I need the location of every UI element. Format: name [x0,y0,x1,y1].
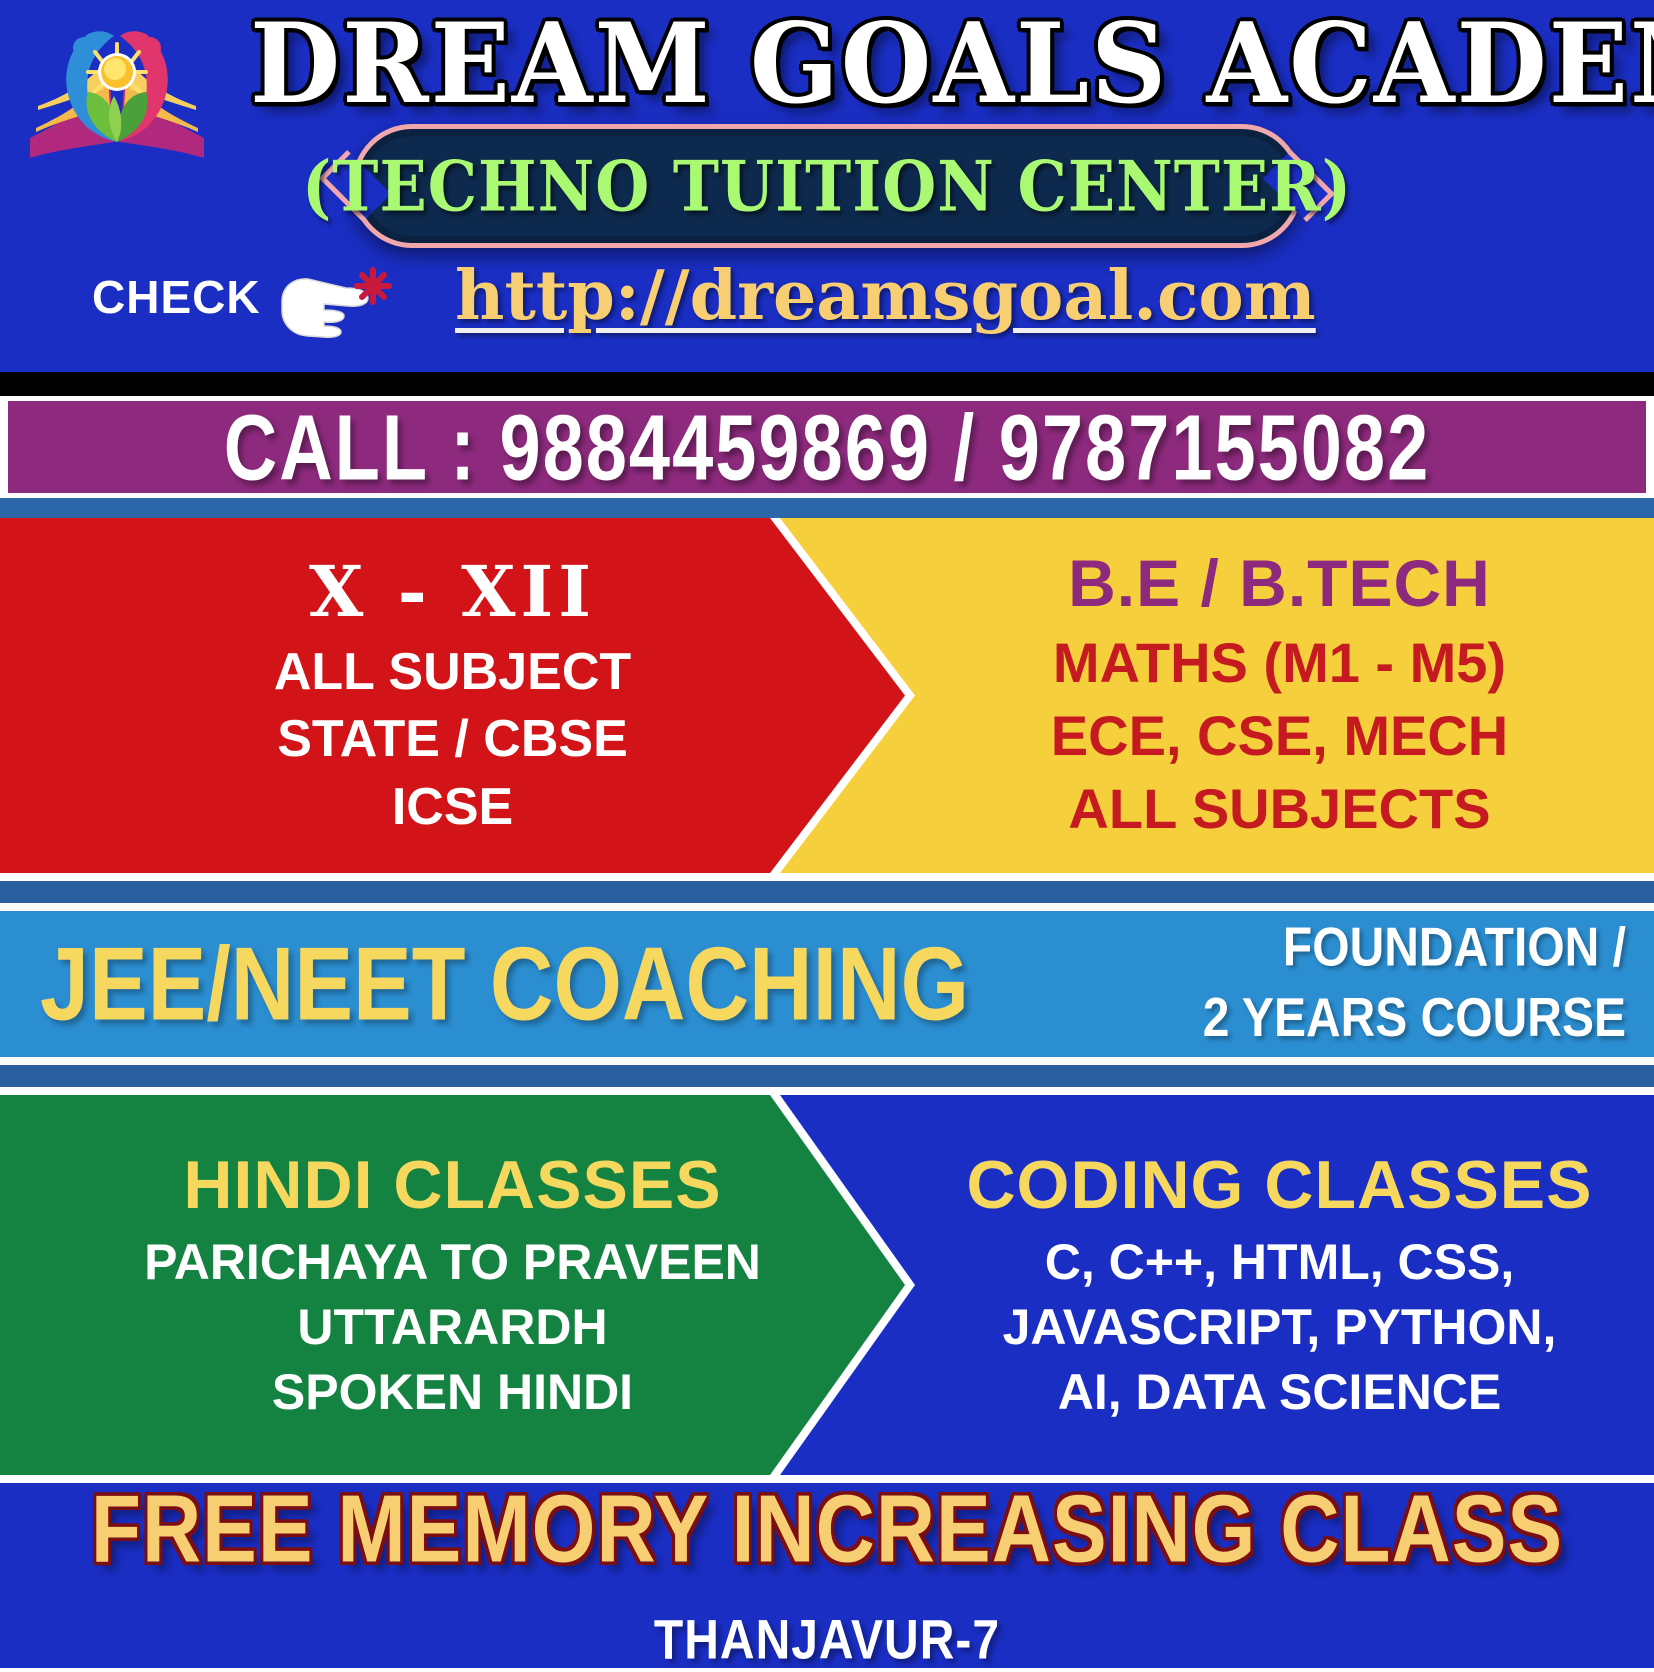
divider-white-4 [0,1087,1654,1095]
header-section: DREAM GOALS ACADEMY (TECHNO TUITION CENT… [0,0,1654,372]
coding-line-3: AI, DATA SCIENCE [1058,1360,1502,1425]
school-line-1: ALL SUBJECT [274,639,631,707]
panel-hindi[interactable]: HINDI CLASSES PARICHAYA TO PRAVEEN UTTAR… [0,1095,905,1475]
hindi-line-3: SPOKEN HINDI [272,1360,633,1425]
engineering-line-1: MATHS (M1 - M5) [1053,627,1506,700]
panel-coding[interactable]: CODING CLASSES C, C++, HTML, CSS, JAVASC… [905,1095,1654,1475]
hindi-line-1: PARICHAYA TO PRAVEEN [144,1230,761,1295]
jee-neet-band[interactable]: JEE/NEET COACHING FOUNDATION / 2 YEARS C… [0,911,1654,1057]
divider-blue-3 [0,1065,1654,1087]
row-school-engineering: X - XII ALL SUBJECT STATE / CBSE ICSE B.… [0,518,1654,873]
footer-section: FREE MEMORY INCREASING CLASS THANJAVUR-7 [0,1483,1654,1668]
subtitle-badge: (TECHNO TUITION CENTER) [352,124,1302,248]
free-class-banner: FREE MEMORY INCREASING CLASS [91,1475,1563,1584]
divider-black [0,372,1654,396]
hindi-line-2: UTTARARDH [297,1295,607,1360]
location-label: THANJAVUR-7 [654,1609,1000,1672]
subtitle-badge-label: (TECHNO TUITION CENTER) [302,145,1352,227]
school-title: X - XII [309,550,596,633]
coding-line-2: JAVASCRIPT, PYTHON, [1003,1295,1557,1360]
engineering-line-3: ALL SUBJECTS [1068,773,1490,846]
check-label: CHECK [92,270,261,324]
panel-school[interactable]: X - XII ALL SUBJECT STATE / CBSE ICSE [0,518,905,873]
school-line-3: ICSE [392,774,513,842]
call-bar: CALL : 9884459869 / 9787155082 [8,401,1646,493]
page-title: DREAM GOALS ACADEMY [250,2,1650,127]
engineering-line-2: ECE, CSE, MECH [1051,700,1508,773]
school-line-2: STATE / CBSE [277,706,628,774]
call-text: CALL : 9884459869 / 9787155082 [224,394,1431,500]
book-sun-people-logo [22,10,212,160]
coding-line-1: C, C++, HTML, CSS, [1045,1230,1515,1295]
divider-blue-1 [0,498,1654,518]
divider-white-3 [0,1057,1654,1065]
jee-neet-side-note: FOUNDATION / 2 YEARS COURSE [1203,913,1626,1055]
website-link[interactable]: http://dreamsgoal.com [455,256,1316,336]
divider-blue-2 [0,881,1654,903]
website-row: CHECK http://dreamsgoal.com [0,258,1654,348]
poster-root: DREAM GOALS ACADEMY (TECHNO TUITION CENT… [0,0,1654,1654]
pointing-hand-icon [272,258,392,346]
coding-title: CODING CLASSES [966,1146,1592,1224]
row-hindi-coding: HINDI CLASSES PARICHAYA TO PRAVEEN UTTAR… [0,1095,1654,1475]
divider-white-2 [0,903,1654,911]
jee-side-line-1: FOUNDATION / [1283,917,1626,977]
jee-side-line-2: 2 YEARS COURSE [1203,989,1626,1049]
hindi-title: HINDI CLASSES [183,1146,721,1224]
panel-engineering[interactable]: B.E / B.TECH MATHS (M1 - M5) ECE, CSE, M… [905,518,1654,873]
divider-white-1 [0,873,1654,881]
engineering-title: B.E / B.TECH [1068,545,1491,621]
jee-neet-title: JEE/NEET COACHING [40,924,969,1044]
